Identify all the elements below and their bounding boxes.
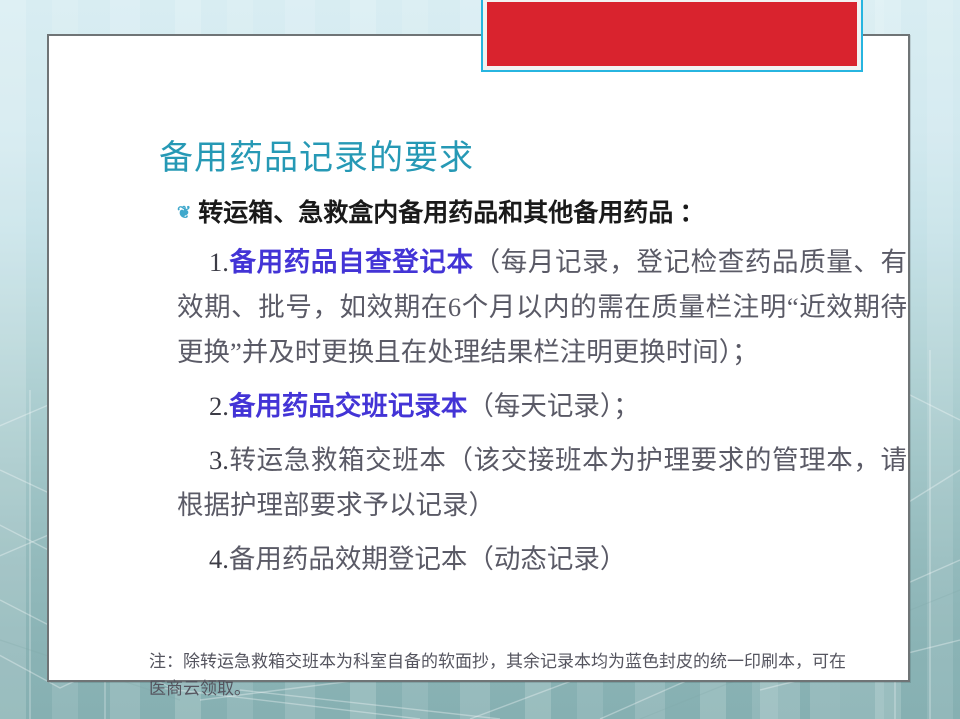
list-item-number: 4. (209, 544, 229, 574)
list-item: 1.备用药品自查登记本（每月记录，登记检查药品质量、有效期、批号，如效期在6个月… (177, 240, 907, 375)
list-item-number: 1. (209, 247, 229, 277)
list-item-highlight: 备用药品交班记录本 (229, 391, 468, 421)
footnote-text: 注：除转运急救箱交班本为科室自备的软面抄，其余记录本均为蓝色封皮的统一印刷本，可… (149, 648, 849, 702)
list-item-text: （每天记录）； (467, 391, 639, 421)
page-title: 备用药品记录的要求 (159, 130, 474, 179)
list-item: 3.转运急救箱交班本（该交接班本为护理要求的管理本，请根据护理部要求予以记录） (177, 438, 907, 528)
list-item-text: 转运急救箱交班本（该交接班本为护理要求的管理本，请根据护理部要求予以记录） (177, 445, 907, 520)
body-text-block: 1.备用药品自查登记本（每月记录，登记检查药品质量、有效期、批号，如效期在6个月… (177, 240, 907, 582)
red-banner-fill (487, 2, 857, 66)
list-item: 4.备用药品效期登记本（动态记录） (177, 537, 907, 582)
red-banner-shape (481, 0, 863, 72)
level1-bullet-line: ❦ 转运箱、急救盒内备用药品和其他备用药品 ： (177, 193, 917, 229)
list-item-number: 2. (209, 391, 229, 421)
list-item-highlight: 备用药品自查登记本 (229, 247, 474, 277)
presentation-slide: 备用药品记录的要求 ❦ 转运箱、急救盒内备用药品和其他备用药品 ： 1.备用药品… (0, 0, 960, 719)
leaf-swirl-icon: ❦ (177, 204, 191, 221)
list-item: 2.备用药品交班记录本（每天记录）； (177, 384, 907, 429)
level1-bullet-label: 转运箱、急救盒内备用药品和其他备用药品 ： (198, 193, 704, 229)
list-item-text: 备用药品效期登记本（动态记录） (229, 544, 627, 574)
list-item-number: 3. (209, 445, 229, 475)
slide-content-panel: 备用药品记录的要求 ❦ 转运箱、急救盒内备用药品和其他备用药品 ： 1.备用药品… (47, 34, 910, 682)
